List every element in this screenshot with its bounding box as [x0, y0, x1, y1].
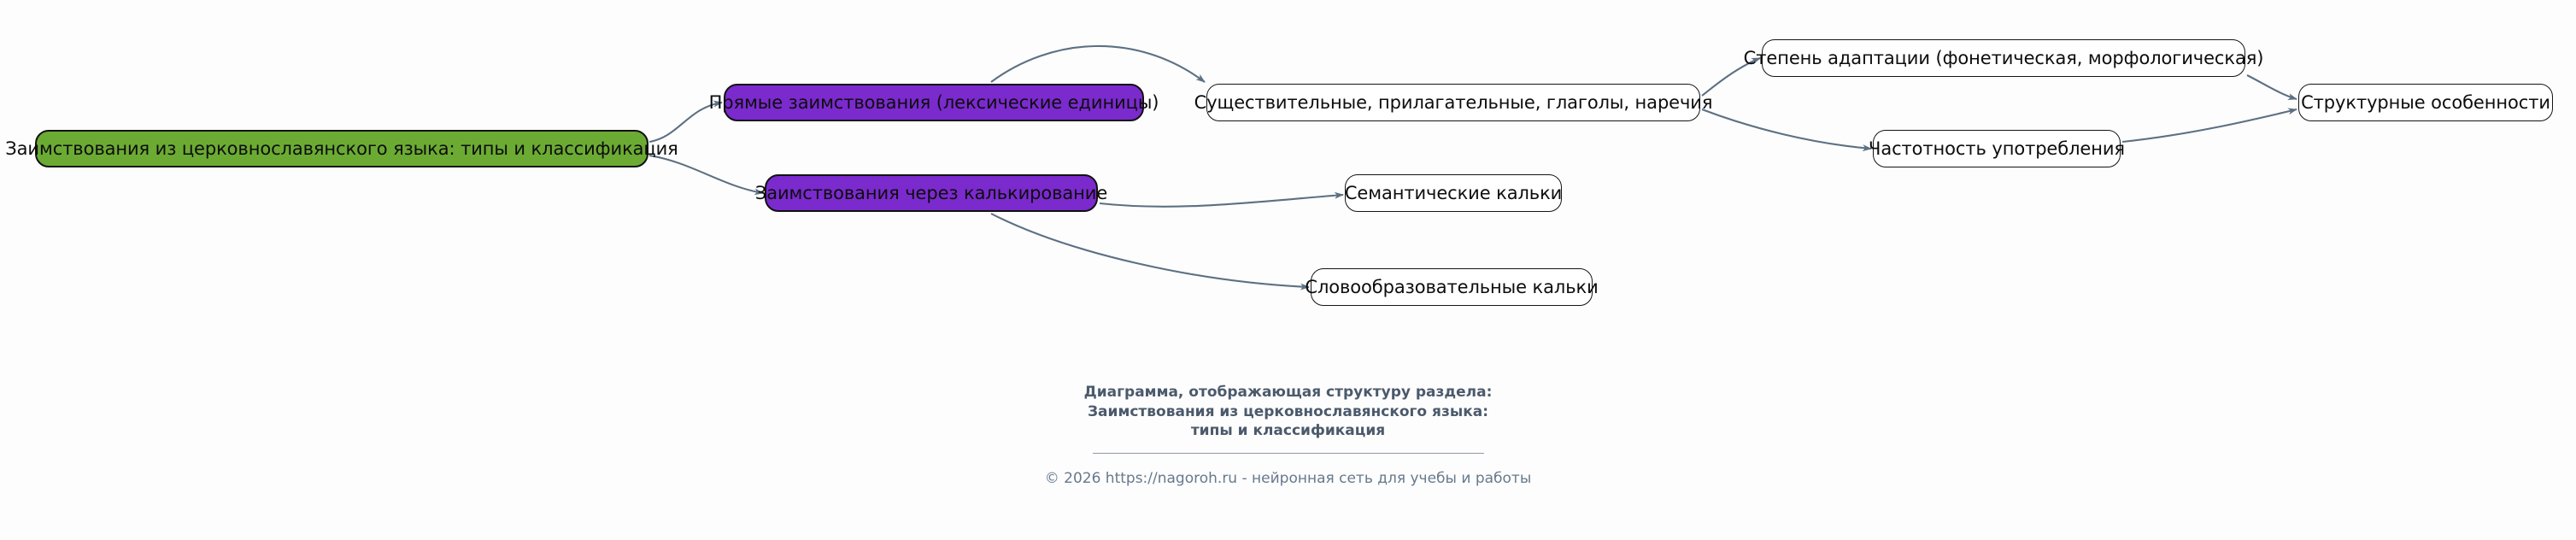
edge-root-to-calque [649, 156, 763, 193]
node-structural-features-label: Структурные особенности [2301, 94, 2550, 112]
caption-block: Диаграмма, отображающая структуру раздел… [0, 383, 2576, 488]
node-derivational-calques[interactable]: Словообразовательные кальки [1311, 268, 1593, 306]
node-semantic-calques-label: Семантические кальки [1345, 185, 1562, 202]
caption-title: Диаграмма, отображающая структуру раздел… [0, 383, 2576, 441]
node-calque-borrowings[interactable]: Заимствования через калькирование [765, 174, 1098, 212]
edge-frequency-to-structural [2122, 109, 2297, 142]
caption-footer: © 2026 https://nagoroh.ru - нейронная се… [0, 469, 2576, 488]
node-direct-borrowings[interactable]: Прямые заимствования (лексические единиц… [724, 84, 1144, 121]
caption-title-line-1: Диаграмма, отображающая структуру раздел… [0, 383, 2576, 402]
node-adaptation-degree[interactable]: Степень адаптации (фонетическая, морфоло… [1762, 39, 2245, 77]
node-derivational-calques-label: Словообразовательные кальки [1305, 279, 1598, 296]
node-parts-of-speech-label: Существительные, прилагательные, глаголы… [1194, 94, 1713, 112]
node-structural-features[interactable]: Структурные особенности [2298, 84, 2553, 121]
edge-adaptation-to-structural [2247, 75, 2297, 99]
caption-title-line-2: Заимствования из церковнославянского язы… [0, 402, 2576, 422]
caption-divider [1093, 453, 1484, 454]
node-semantic-calques[interactable]: Семантические кальки [1345, 174, 1562, 212]
node-adaptation-degree-label: Степень адаптации (фонетическая, морфоло… [1744, 50, 2264, 67]
node-direct-borrowings-label: Прямые заимствования (лексические единиц… [709, 94, 1159, 112]
node-usage-frequency[interactable]: Частотность употребления [1873, 130, 2121, 167]
node-root-label: Заимствования из церковнославянского язы… [5, 140, 678, 158]
node-usage-frequency-label: Частотность употребления [1869, 140, 2125, 158]
caption-title-line-3: типы и классификация [0, 421, 2576, 441]
edge-calque-to-semantic [1100, 195, 1343, 207]
node-calque-borrowings-label: Заимствования через калькирование [755, 185, 1107, 202]
edge-calque-to-derivational [991, 214, 1309, 287]
diagram-canvas: Заимствования из церковнославянского язы… [0, 0, 2576, 540]
node-root[interactable]: Заимствования из церковнославянского язы… [35, 130, 648, 167]
node-parts-of-speech[interactable]: Существительные, прилагательные, глаголы… [1206, 84, 1700, 121]
edge-partsofspeech-to-frequency [1702, 109, 1871, 149]
edge-direct-to-partsofspeech [991, 46, 1205, 82]
